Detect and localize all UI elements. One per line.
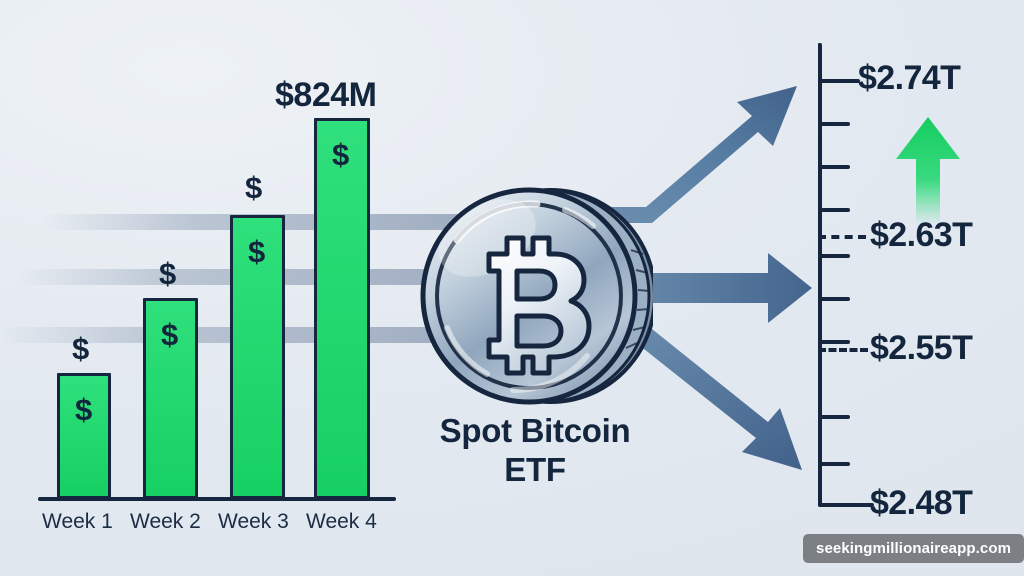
scale-tick-1: [818, 79, 860, 83]
scale-tick-6: [818, 297, 850, 301]
x-axis-label-week-2: Week 2: [130, 511, 201, 532]
scale-label-263: $2.63T: [870, 218, 972, 252]
scale-tick-dashed-263: [818, 235, 866, 239]
bar-dollar-icon-4: $: [332, 139, 349, 170]
coin-caption-line-2: ETF: [375, 451, 695, 490]
infographic-canvas: $824M $ $ $ $ $ $ $ Week 1 Week 2 Week 3…: [0, 0, 1024, 576]
bar-week-3[interactable]: $: [230, 215, 285, 499]
price-scale: $2.74T $2.63T $2.55T $2.48T: [810, 30, 1024, 530]
bar-dollar-icon-1: $: [75, 394, 92, 425]
watermark-badge: seekingmillionaireapp.com: [803, 534, 1024, 563]
scale-tick-8: [818, 415, 850, 419]
bitcoin-symbol: [489, 238, 589, 373]
floating-dollar-icon-3: $: [245, 172, 262, 203]
scale-label-255: $2.55T: [870, 331, 972, 365]
scale-tick-5: [818, 254, 850, 258]
scale-cap-top: [818, 43, 820, 47]
scale-tick-2: [818, 122, 850, 126]
scale-tick-dashed-255: [818, 348, 868, 352]
scale-tick-4: [818, 208, 850, 212]
scale-spine: [818, 43, 822, 507]
bitcoin-coin[interactable]: [417, 178, 653, 414]
callout-value-label: $824M: [275, 78, 376, 112]
bar-chart: $824M $ $ $ $ $ $ $ Week 1 Week 2 Week 3…: [0, 0, 420, 576]
scale-tick-7: [818, 340, 850, 344]
chart-baseline: [38, 497, 396, 501]
bar-dollar-icon-2: $: [161, 319, 178, 350]
scale-cap-bottom: [818, 503, 874, 507]
bar-week-1[interactable]: $: [57, 373, 111, 499]
x-axis-label-week-3: Week 3: [218, 511, 289, 532]
x-axis-label-week-1: Week 1: [42, 511, 113, 532]
scale-label-274: $2.74T: [858, 61, 960, 95]
floating-dollar-icon-1: $: [72, 333, 89, 364]
x-axis-label-week-4: Week 4: [306, 511, 377, 532]
bar-week-2[interactable]: $: [143, 298, 198, 499]
scale-tick-3: [818, 165, 850, 169]
scale-label-248: $2.48T: [870, 486, 972, 520]
scale-tick-9: [818, 462, 850, 466]
bar-week-4[interactable]: $: [314, 118, 370, 499]
momentum-arrow-up: [892, 115, 964, 225]
coin-caption: Spot Bitcoin ETF: [375, 412, 695, 489]
coin-caption-line-1: Spot Bitcoin: [375, 412, 695, 451]
floating-dollar-icon-2: $: [159, 258, 176, 289]
bar-dollar-icon-3: $: [248, 236, 265, 267]
